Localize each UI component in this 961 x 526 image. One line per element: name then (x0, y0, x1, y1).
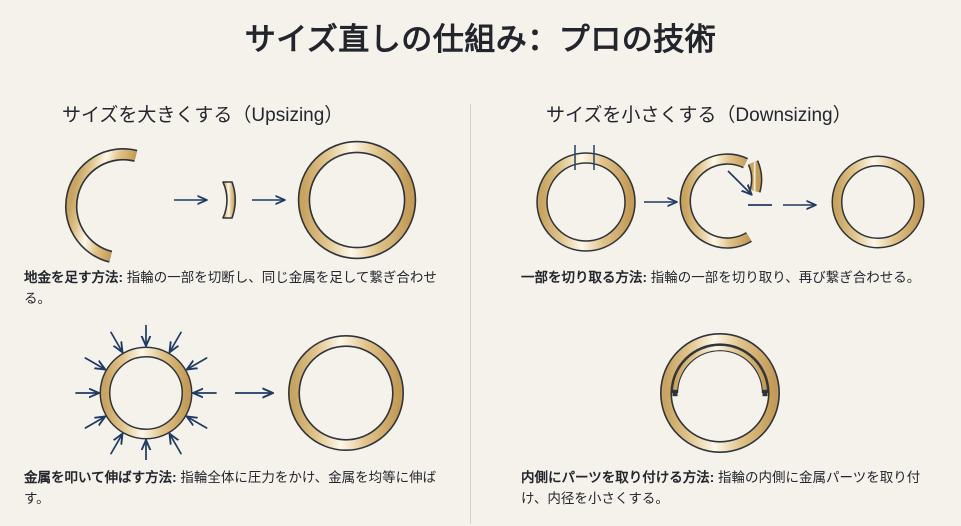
pressure-arrows-group (76, 325, 216, 460)
ring-section-removed-icon (685, 159, 772, 243)
metal-insert-piece-icon (223, 182, 235, 218)
figure-hammer-stretch (20, 325, 450, 460)
caption-lead: 内側にパーツを取り付ける方法: (521, 470, 714, 485)
arrow-diagonal-icon (728, 171, 751, 194)
column-divider (470, 104, 471, 524)
ring-with-gap-icon (60, 143, 136, 256)
caption-lead: 地金を足す方法: (24, 270, 123, 285)
infographic-page: サイズ直しの仕組み：プロの技術 サイズを大きくする（Upsizing） サイズを… (0, 0, 961, 526)
page-title: サイズ直しの仕組み：プロの技術 (0, 14, 961, 59)
figure-add-metal (20, 138, 450, 263)
figure-cut-out-section (500, 136, 940, 264)
figure-inner-sizing-bar (500, 325, 940, 460)
ring-compressed-icon (105, 352, 187, 434)
column-heading-downsizing: サイズを小さくする（Downsizing） (546, 100, 852, 127)
caption-lead: 一部を切り取る方法: (521, 270, 647, 285)
column-heading-upsizing: サイズを大きくする（Upsizing） (62, 100, 343, 127)
ring-with-cut-marks-icon (542, 145, 630, 246)
ring-stretched-larger-icon (294, 341, 398, 445)
caption-text: 指輪の一部を切り取り、再び繋ぎ合わせる。 (647, 270, 920, 285)
ring-smaller-complete-icon (837, 161, 919, 243)
caption-inner-sizing-bar: 内側にパーツを取り付ける方法: 指輪の内側に金属パーツを取り付け、内径を小さくす… (521, 468, 933, 510)
caption-add-metal: 地金を足す方法: 指輪の一部を切断し、同じ金属を足して繋ぎ合わせる。 (24, 268, 440, 310)
caption-lead: 金属を叩いて伸ばす方法: (24, 470, 177, 485)
caption-hammer-stretch: 金属を叩いて伸ばす方法: 指輪全体に圧力をかけ、金属を均等に伸ばす。 (24, 468, 440, 510)
caption-cut-out-section: 一部を切り取る方法: 指輪の一部を切り取り、再び繋ぎ合わせる。 (521, 268, 933, 289)
ring-with-inner-part-icon (666, 339, 774, 447)
ring-larger-complete-icon (304, 147, 410, 253)
